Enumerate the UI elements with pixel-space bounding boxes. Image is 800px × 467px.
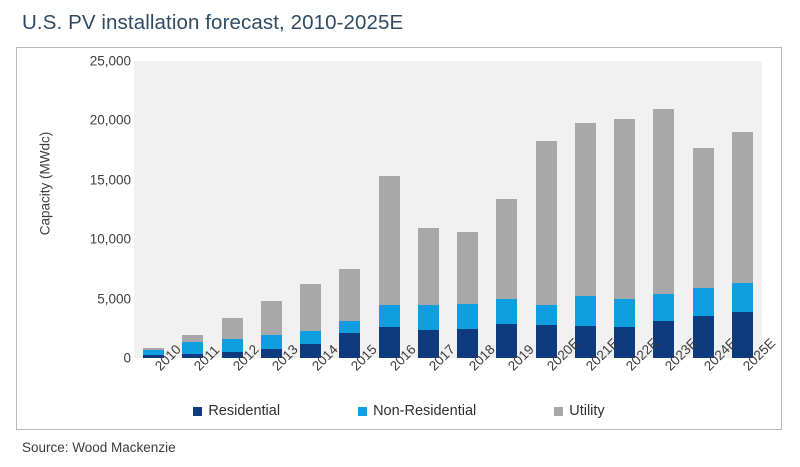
bar-column[interactable] <box>644 61 683 358</box>
legend-item[interactable]: Residential <box>193 403 280 419</box>
chart-page: U.S. PV installation forecast, 2010-2025… <box>0 0 800 467</box>
bar-column[interactable] <box>330 61 369 358</box>
bar-stack[interactable] <box>300 284 321 358</box>
bar-segment-utility[interactable] <box>261 301 282 335</box>
bar-column[interactable] <box>605 61 644 358</box>
bar-stack[interactable] <box>653 109 674 358</box>
bar-segment-utility[interactable] <box>222 318 243 339</box>
bar-stack[interactable] <box>418 228 439 358</box>
bar-column[interactable] <box>213 61 252 358</box>
legend-swatch-icon <box>554 407 563 416</box>
bar-column[interactable] <box>566 61 605 358</box>
bar-column[interactable] <box>134 61 173 358</box>
bar-stack[interactable] <box>693 148 714 358</box>
bar-segment-non-residential[interactable] <box>300 331 321 343</box>
bar-segment-non-residential[interactable] <box>536 305 557 325</box>
bar-segment-non-residential[interactable] <box>653 294 674 321</box>
chart-legend: ResidentialNon-ResidentialUtility <box>17 403 781 419</box>
bar-column[interactable] <box>173 61 212 358</box>
bar-stack[interactable] <box>614 119 635 358</box>
legend-label: Residential <box>208 403 280 419</box>
bar-segment-non-residential[interactable] <box>614 299 635 327</box>
y-axis-tick: 20,000 <box>69 113 131 128</box>
bar-segment-non-residential[interactable] <box>339 321 360 333</box>
bar-segment-non-residential[interactable] <box>418 305 439 329</box>
bar-stack[interactable] <box>457 232 478 358</box>
bar-segment-utility[interactable] <box>418 228 439 305</box>
bar-segment-non-residential[interactable] <box>379 305 400 328</box>
page-title: U.S. PV installation forecast, 2010-2025… <box>22 11 403 35</box>
bar-column[interactable] <box>252 61 291 358</box>
bar-column[interactable] <box>723 61 762 358</box>
y-axis-tick: 10,000 <box>69 232 131 247</box>
bar-segment-utility[interactable] <box>536 141 557 305</box>
bar-stack[interactable] <box>732 132 753 358</box>
bar-segment-non-residential[interactable] <box>457 304 478 329</box>
bar-column[interactable] <box>448 61 487 358</box>
bar-column[interactable] <box>370 61 409 358</box>
y-axis-tick: 25,000 <box>69 54 131 69</box>
y-axis-tick: 15,000 <box>69 172 131 187</box>
bar-column[interactable] <box>487 61 526 358</box>
bar-segment-utility[interactable] <box>379 176 400 304</box>
bar-segment-non-residential[interactable] <box>693 288 714 317</box>
legend-label: Utility <box>569 403 604 419</box>
bar-segment-non-residential[interactable] <box>732 283 753 312</box>
bar-segment-non-residential[interactable] <box>222 339 243 352</box>
bar-segment-non-residential[interactable] <box>575 296 596 326</box>
bar-segment-utility[interactable] <box>653 109 674 294</box>
bar-segment-utility[interactable] <box>300 284 321 331</box>
bar-segment-utility[interactable] <box>339 269 360 321</box>
legend-item[interactable]: Non-Residential <box>358 403 476 419</box>
y-axis-tick: 0 <box>69 351 131 366</box>
y-axis-title: Capacity (MWdc) <box>38 104 53 264</box>
bar-segment-utility[interactable] <box>496 199 517 299</box>
bar-column[interactable] <box>291 61 330 358</box>
bar-column[interactable] <box>527 61 566 358</box>
bar-segment-utility[interactable] <box>575 123 596 296</box>
bar-segment-non-residential[interactable] <box>496 299 517 325</box>
bar-stack[interactable] <box>496 199 517 358</box>
bar-stack[interactable] <box>379 176 400 358</box>
bar-segment-utility[interactable] <box>693 148 714 288</box>
bar-stack[interactable] <box>261 301 282 358</box>
legend-swatch-icon <box>358 407 367 416</box>
legend-item[interactable]: Utility <box>554 403 604 419</box>
chart-card: Capacity (MWdc) 25,00020,00015,00010,000… <box>16 47 782 430</box>
bar-segment-residential[interactable] <box>732 312 753 358</box>
legend-swatch-icon <box>193 407 202 416</box>
bar-segment-utility[interactable] <box>732 132 753 283</box>
bar-segment-utility[interactable] <box>614 119 635 298</box>
bar-segment-utility[interactable] <box>457 232 478 304</box>
legend-label: Non-Residential <box>373 403 476 419</box>
y-axis-tick-labels: 25,00020,00015,00010,0005,0000 <box>57 48 131 429</box>
source-note: Source: Wood Mackenzie <box>22 440 176 455</box>
plot-area <box>134 61 762 358</box>
bars-layer <box>134 61 762 358</box>
bar-stack[interactable] <box>339 269 360 358</box>
bar-column[interactable] <box>684 61 723 358</box>
y-axis-tick: 5,000 <box>69 291 131 306</box>
bar-stack[interactable] <box>536 141 557 358</box>
bar-stack[interactable] <box>575 123 596 358</box>
bar-segment-non-residential[interactable] <box>261 335 282 348</box>
bar-column[interactable] <box>409 61 448 358</box>
